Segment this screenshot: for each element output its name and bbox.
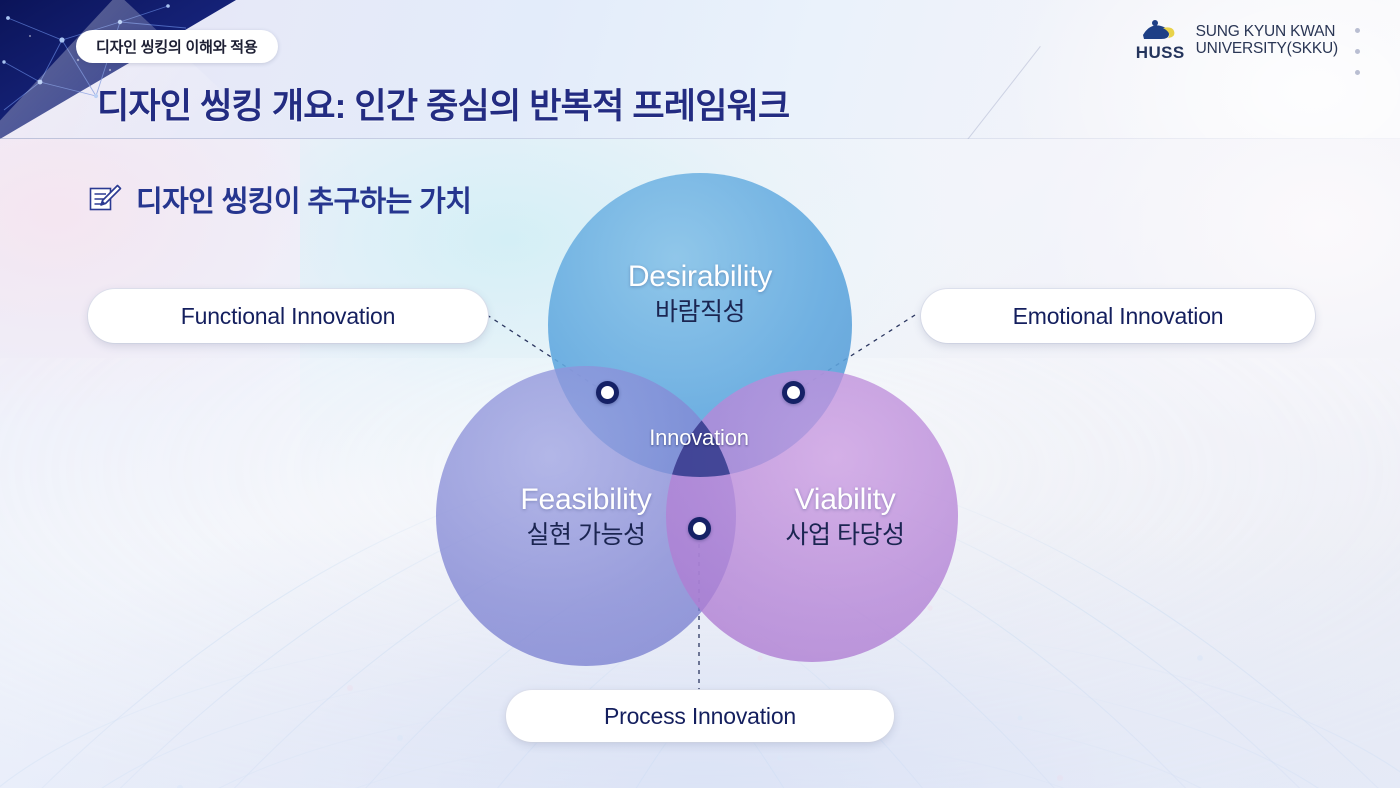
callout-functional-innovation[interactable]: Functional Innovation (88, 289, 488, 343)
callout-functional-label: Functional Innovation (181, 303, 395, 330)
node-functional (596, 381, 619, 404)
callout-process-innovation[interactable]: Process Innovation (506, 690, 894, 742)
node-emotional (782, 381, 805, 404)
callout-emotional-innovation[interactable]: Emotional Innovation (921, 289, 1315, 343)
venn-circles (436, 173, 958, 666)
callout-process-label: Process Innovation (604, 703, 796, 730)
venn-circle-viability (666, 370, 958, 662)
venn-diagram (0, 0, 1400, 788)
slide-canvas: 디자인 씽킹의 이해와 적용 디자인 씽킹 개요: 인간 중심의 반복적 프레임… (0, 0, 1400, 788)
node-process (688, 517, 711, 540)
callout-emotional-label: Emotional Innovation (1013, 303, 1224, 330)
